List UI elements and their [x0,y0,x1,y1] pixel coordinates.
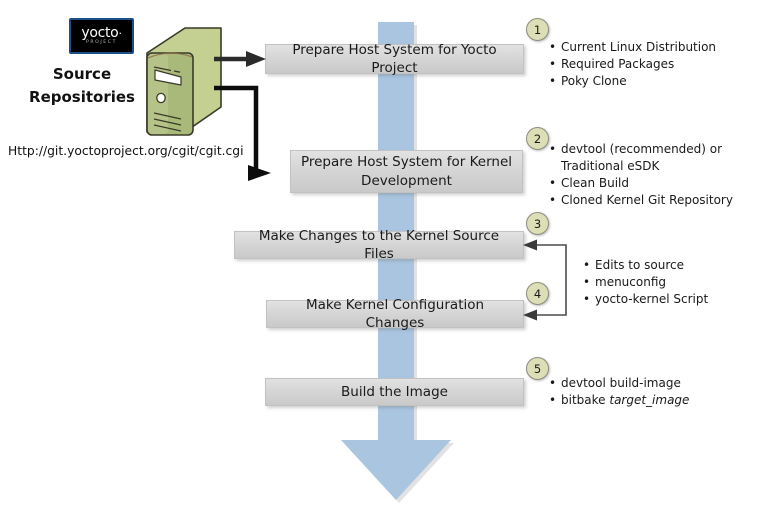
step-box-1-label: Prepare Host System for Yocto Project [274,41,515,77]
source-repositories-label: Source Repositories [17,63,147,108]
connector-server-to-step2 [214,84,276,186]
connector-bracket-steps-3-4 [521,236,575,330]
step-box-5[interactable]: Build the Image [265,378,524,406]
step-box-4[interactable]: Make Kernel Configuration Changes [266,300,524,328]
step-box-4-label: Make Kernel Configuration Changes [275,296,515,332]
list-item: Current Linux Distribution [549,39,716,56]
source-label-line1: Source [17,63,147,86]
yocto-project-logo: yocto· PROJECT [69,18,134,54]
list-item-continuation: Traditional eSDK [549,158,733,175]
step-5-bullet-list: devtool build-image bitbake target_image [549,375,689,409]
source-label-line2: Repositories [17,86,147,109]
list-item: devtool (recommended) or [549,141,733,158]
list-item-emphasis: target_image [609,393,689,407]
step-box-3[interactable]: Make Changes to the Kernel Source Files [234,231,524,259]
list-item: Clean Build [549,175,733,192]
list-item: Cloned Kernel Git Repository [549,192,733,209]
step-1-bullet-list: Current Linux Distribution Required Pack… [549,39,716,90]
list-item: Edits to source [583,257,708,274]
list-item: yocto-kernel Script [583,291,708,308]
list-item: devtool build-image [549,375,689,392]
step-box-1[interactable]: Prepare Host System for Yocto Project [265,44,524,74]
step-number-3: 3 [526,212,549,235]
logo-word-text: yocto [81,25,118,41]
step-number-2: 2 [526,127,549,150]
step-box-2-label-line2: Development [361,172,452,190]
list-item: bitbake target_image [549,392,689,409]
step-number-1: 1 [526,18,549,41]
list-item-text: bitbake [561,393,609,407]
step-box-2[interactable]: Prepare Host System for Kernel Developme… [290,150,523,193]
list-item: Poky Clone [549,73,716,90]
connector-server-to-step1 [214,48,270,74]
logo-subtitle: PROJECT [86,41,117,46]
diagram-canvas: yocto· PROJECT Source Repositories Http:… [0,0,769,517]
step-box-2-label-line1: Prepare Host System for Kernel [301,153,512,171]
step-2-bullet-list: devtool (recommended) or Traditional eSD… [549,141,733,209]
step-number-5: 5 [526,357,549,380]
main-flow-arrowhead-icon [341,440,451,500]
source-repository-url: Http://git.yoctoproject.org/cgit/cgit.cg… [8,144,244,158]
step-box-5-label: Build the Image [341,383,448,401]
list-item: Required Packages [549,56,716,73]
step-box-3-label: Make Changes to the Kernel Source Files [243,227,515,263]
list-item: menuconfig [583,274,708,291]
logo-wordmark: yocto· [81,26,121,40]
logo-dot-icon: · [118,27,121,40]
steps-3-4-bullet-list: Edits to source menuconfig yocto-kernel … [583,257,708,308]
